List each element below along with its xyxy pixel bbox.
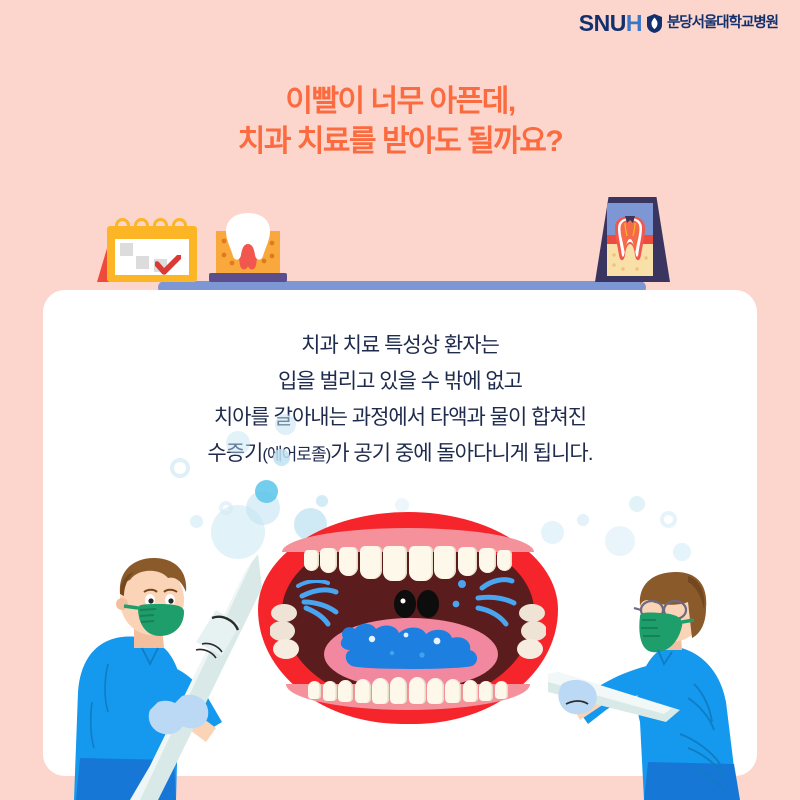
- body-line-2: 입을 벌리고 있을 수 밖에 없고: [43, 364, 757, 400]
- tooth: [479, 548, 496, 573]
- calendar-model: [97, 216, 200, 282]
- bubble: [673, 543, 691, 561]
- tooth: [308, 681, 321, 699]
- tooth: [479, 681, 493, 701]
- body-line-4-c: 가 공기 중에 돌아다니게 됩니다.: [330, 442, 592, 465]
- tooth-model-base: [209, 273, 287, 282]
- dentist-right-glove: [558, 680, 596, 714]
- tooth: [445, 679, 461, 703]
- calendar-page: [115, 239, 189, 275]
- bubble: [629, 496, 645, 512]
- body-paragraph: 치과 치료 특성상 환자는 입을 벌리고 있을 수 밖에 없고 치아를 갈아내는…: [43, 328, 757, 472]
- dentist-left: [72, 552, 262, 800]
- dentist-right-pants: [644, 762, 740, 800]
- tooth: [383, 546, 407, 581]
- title-line-1: 이빨이 너무 아픈데,: [0, 82, 800, 122]
- tooth: [355, 679, 371, 703]
- bubble: [605, 526, 635, 556]
- title-line-2: 치과 치료를 받아도 될까요?: [0, 122, 800, 162]
- tooth-gum-model: [209, 212, 287, 282]
- calendar-day-cell: [136, 256, 149, 269]
- bubble: [211, 505, 265, 559]
- checkmark-icon: [155, 255, 181, 275]
- tooth: [463, 680, 478, 702]
- right-molars: [502, 604, 546, 662]
- tooth: [339, 547, 358, 576]
- logo-wordmark: SNUH: [579, 12, 642, 35]
- tooth: [390, 677, 407, 704]
- dentist-left-ear: [116, 598, 128, 610]
- left-molars: [270, 604, 314, 662]
- calendar-body: [107, 226, 197, 282]
- tooth: [323, 681, 337, 701]
- tooth: [360, 546, 382, 579]
- dentist-right-mask-strap: [682, 620, 694, 622]
- tooth: [495, 681, 508, 699]
- calendar-day-cell: [120, 243, 133, 256]
- tooth: [409, 677, 426, 704]
- logo-h-text: H: [626, 10, 642, 36]
- body-line-3: 치아를 갈아내는 과정에서 타액과 물이 합쳐진: [43, 400, 757, 436]
- bubble-ring: [219, 501, 233, 515]
- tooth-icon: [222, 212, 274, 262]
- bubble: [226, 431, 250, 455]
- bubble: [395, 498, 409, 512]
- poster-tooth-icon: [607, 203, 653, 276]
- bubble: [316, 495, 328, 507]
- tooth: [497, 550, 512, 571]
- dentist-left-mask-strap: [124, 606, 138, 608]
- bubble-ring: [660, 511, 677, 528]
- tooth: [458, 547, 477, 576]
- tooth: [409, 546, 433, 581]
- bubble-ring: [170, 458, 190, 478]
- bubble: [577, 514, 589, 526]
- dentist-right: [548, 572, 760, 800]
- lower-teeth: [306, 670, 510, 704]
- bubble: [190, 515, 203, 528]
- tooth: [338, 680, 353, 702]
- dentist-left-pupil: [168, 598, 173, 603]
- shield-icon: [647, 14, 662, 33]
- dental-xray-poster: [595, 197, 670, 282]
- poster-screen: [607, 203, 653, 276]
- tooth: [427, 678, 444, 704]
- snuh-logo: SNUH 분당서울대학교병원: [579, 12, 778, 35]
- logo-korean-text: 분당서울대학교병원: [667, 16, 778, 31]
- bubble: [275, 414, 296, 435]
- tooth: [372, 678, 389, 704]
- infographic-canvas: SNUH 분당서울대학교병원 이빨이 너무 아픈데, 치과 치료를 받아도 될까…: [0, 0, 800, 800]
- logo-snu-text: SNU: [579, 10, 626, 36]
- body-line-1: 치과 치료 특성상 환자는: [43, 328, 757, 364]
- open-mouth: [258, 512, 558, 724]
- body-line-4: 수증기(에어로졸)가 공기 중에 돌아다니게 됩니다.: [43, 436, 757, 472]
- dentist-left-pupil: [148, 598, 153, 603]
- page-title: 이빨이 너무 아픈데, 치과 치료를 받아도 될까요?: [0, 82, 800, 161]
- tooth: [320, 548, 337, 573]
- tooth: [304, 550, 319, 571]
- bubble: [273, 449, 290, 466]
- bubble: [255, 480, 278, 503]
